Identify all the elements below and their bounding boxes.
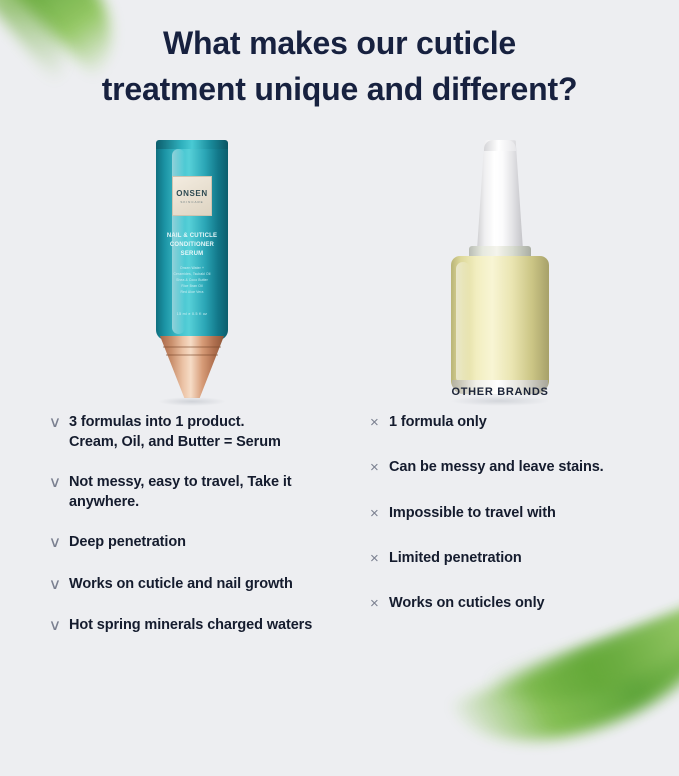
onsen-benefits-column: ∨ 3 formulas into 1 product. Cream, Oil,… (0, 413, 340, 657)
benefit-text: Works on cuticle and nail growth (69, 575, 293, 595)
page-title-line-1: What makes our cuticle (48, 20, 631, 66)
benefit-text: Hot spring minerals charged waters (69, 616, 312, 636)
benefit-text: Deep penetration (69, 533, 186, 553)
check-mark-icon: ∨ (49, 413, 71, 433)
drawback-text: Works on cuticles only (389, 594, 544, 614)
check-mark-icon: ∨ (49, 616, 71, 636)
check-mark-icon: ∨ (49, 533, 71, 553)
ingredient-line-5: Red Aloe Vera (150, 290, 234, 296)
nozzle-ring-2 (166, 354, 218, 356)
check-mark-icon: ∨ (49, 473, 71, 493)
cross-mark-icon: × (370, 458, 389, 478)
benefit-text: Not messy, easy to travel, Take it anywh… (69, 473, 292, 512)
other-brand-bottle-image (440, 140, 560, 402)
drawback-text: 1 formula only (389, 413, 487, 433)
list-item: ∨ Not messy, easy to travel, Take it any… (50, 473, 328, 512)
drawback-text: Can be messy and leave stains. (389, 458, 604, 478)
benefit-line-1: Not messy, easy to travel, Take it (69, 474, 292, 490)
tube-product-name-line-2: CONDITIONER (150, 241, 234, 250)
page-title: What makes our cuticle treatment unique … (0, 20, 679, 113)
tube-product-name: NAIL & CUTICLE CONDITIONER SERUM (150, 232, 234, 259)
comparison-columns: ∨ 3 formulas into 1 product. Cream, Oil,… (0, 413, 679, 657)
benefit-line-1: 3 formulas into 1 product. (69, 414, 244, 430)
list-item: × Impossible to travel with (370, 504, 669, 524)
list-item: × 1 formula only (370, 413, 669, 433)
check-mark-icon: ∨ (49, 575, 71, 595)
other-brands-label: OTHER BRANDS (340, 386, 660, 398)
list-item: ∨ 3 formulas into 1 product. Cream, Oil,… (50, 413, 328, 452)
list-item: ∨ Works on cuticle and nail growth (50, 575, 328, 595)
bottle-cap (477, 140, 523, 250)
bottle-cap-top (484, 140, 516, 151)
benefit-text: 3 formulas into 1 product. Cream, Oil, a… (69, 413, 281, 452)
list-item: × Works on cuticles only (370, 594, 669, 614)
tube-shadow (158, 397, 226, 406)
tube-product-name-line-1: NAIL & CUTICLE (150, 232, 234, 241)
cross-mark-icon: × (370, 504, 389, 524)
onsen-serum-tube-image: ONSEN SKINCARE NAIL & CUTICLE CONDITIONE… (150, 140, 234, 400)
drawback-text: Limited penetration (389, 549, 522, 569)
tube-size-text: 15 ml e 0.5 fl oz (150, 312, 234, 316)
list-item: ∨ Deep penetration (50, 533, 328, 553)
page-title-line-2: treatment unique and different? (48, 66, 631, 112)
cross-mark-icon: × (370, 594, 389, 614)
cross-mark-icon: × (370, 413, 389, 433)
product-stage: ONSEN SKINCARE NAIL & CUTICLE CONDITIONE… (0, 132, 679, 402)
list-item: × Can be messy and leave stains. (370, 458, 669, 478)
other-brands-drawbacks-column: × 1 formula only × Can be messy and leav… (340, 413, 679, 657)
list-item: × Limited penetration (370, 549, 669, 569)
cross-mark-icon: × (370, 549, 389, 569)
tube-product-name-line-3: SERUM (150, 250, 234, 259)
tube-brand-label: ONSEN SKINCARE (172, 176, 212, 216)
benefit-line-2: anywhere. (69, 494, 139, 510)
bottle-highlight (456, 262, 470, 384)
tube-ingredients-text: Onsen Water + Ceramides, Tsubaki Oil She… (150, 266, 234, 296)
list-item: ∨ Hot spring minerals charged waters (50, 616, 328, 636)
drawback-text: Impossible to travel with (389, 504, 556, 524)
benefit-line-2: Cream, Oil, and Butter = Serum (69, 434, 281, 450)
tube-crimp-top (156, 140, 228, 149)
nozzle-ring-1 (163, 346, 221, 348)
brand-subtitle: SKINCARE (180, 200, 203, 204)
brand-name: ONSEN (176, 189, 207, 198)
